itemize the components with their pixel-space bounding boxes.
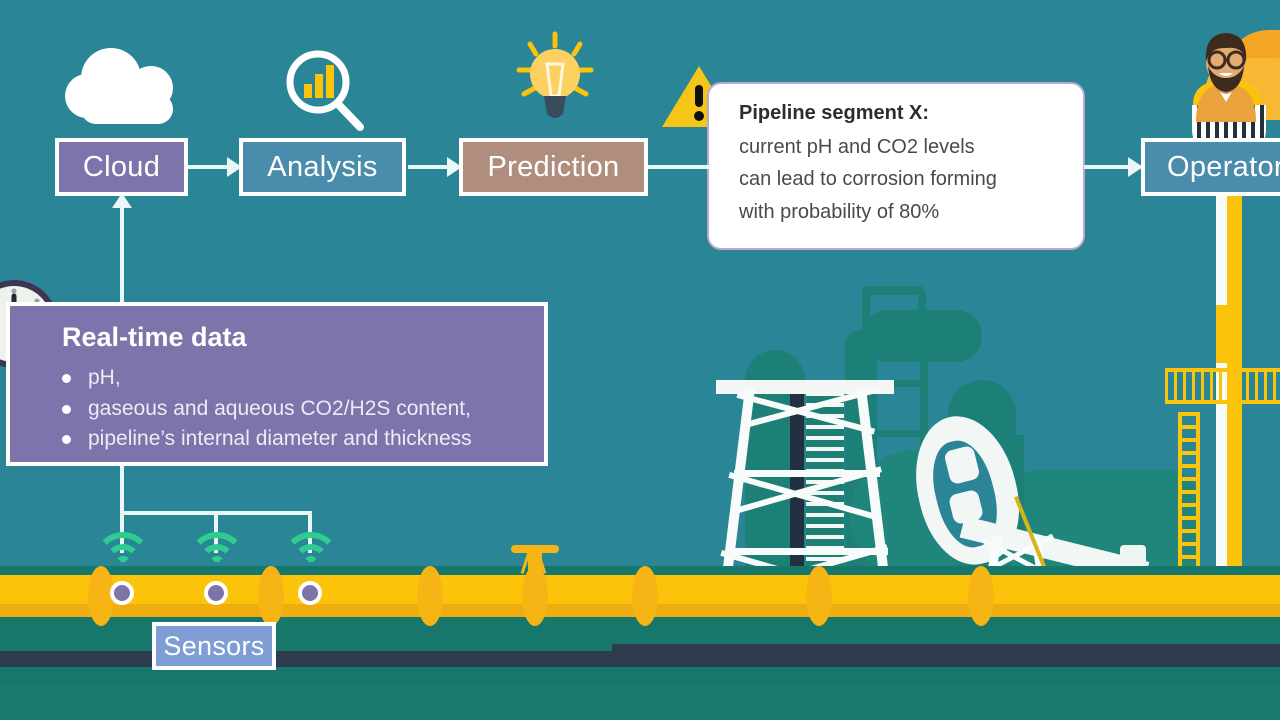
flow-box-operator-label: Operator — [1167, 151, 1280, 184]
list-item: pH, — [62, 363, 544, 394]
sensor-node[interactable] — [204, 581, 228, 605]
foreground-strip — [0, 684, 1280, 720]
cloud-icon — [65, 48, 187, 131]
infographic-canvas: Pipeline segment X: current pH and CO2 l… — [0, 0, 1280, 720]
connector-prediction-to-callout — [648, 165, 710, 169]
callout-line-1: current pH and CO2 levels — [739, 131, 1061, 163]
list-item: gaseous and aqueous CO2/H2S content, — [62, 394, 544, 425]
operator-avatar-icon — [1186, 26, 1258, 118]
flow-box-prediction[interactable]: Prediction — [459, 138, 648, 196]
wifi-signal-icon — [280, 532, 342, 572]
magnifier-chart-icon — [284, 48, 368, 139]
flow-box-cloud-label: Cloud — [83, 151, 160, 184]
realtime-data-panel: Real-time data pH, gaseous and aqueous C… — [6, 302, 548, 466]
realtime-data-title: Real-time data — [62, 322, 544, 353]
callout-line-2: can lead to corrosion forming — [739, 163, 1061, 195]
flow-box-cloud[interactable]: Cloud — [55, 138, 188, 196]
sensor-node[interactable] — [110, 581, 134, 605]
flow-box-analysis-label: Analysis — [267, 151, 377, 184]
prediction-callout: Pipeline segment X: current pH and CO2 l… — [707, 82, 1085, 250]
wifi-signal-icon — [92, 532, 154, 572]
flow-box-prediction-label: Prediction — [488, 151, 620, 184]
lightbulb-icon — [513, 30, 597, 135]
callout-line-3: with probability of 80% — [739, 196, 1061, 228]
flow-box-analysis[interactable]: Analysis — [239, 138, 406, 196]
wifi-signal-icon — [186, 532, 248, 572]
flow-box-operator[interactable]: Operator — [1141, 138, 1280, 196]
list-item: pipeline’s internal diameter and thickne… — [62, 424, 544, 455]
flow-box-sensors[interactable]: Sensors — [152, 622, 276, 670]
sensor-node[interactable] — [298, 581, 322, 605]
callout-title: Pipeline segment X: — [739, 102, 1061, 125]
flow-box-sensors-label: Sensors — [163, 631, 264, 662]
realtime-data-list: pH, gaseous and aqueous CO2/H2S content,… — [62, 363, 544, 455]
